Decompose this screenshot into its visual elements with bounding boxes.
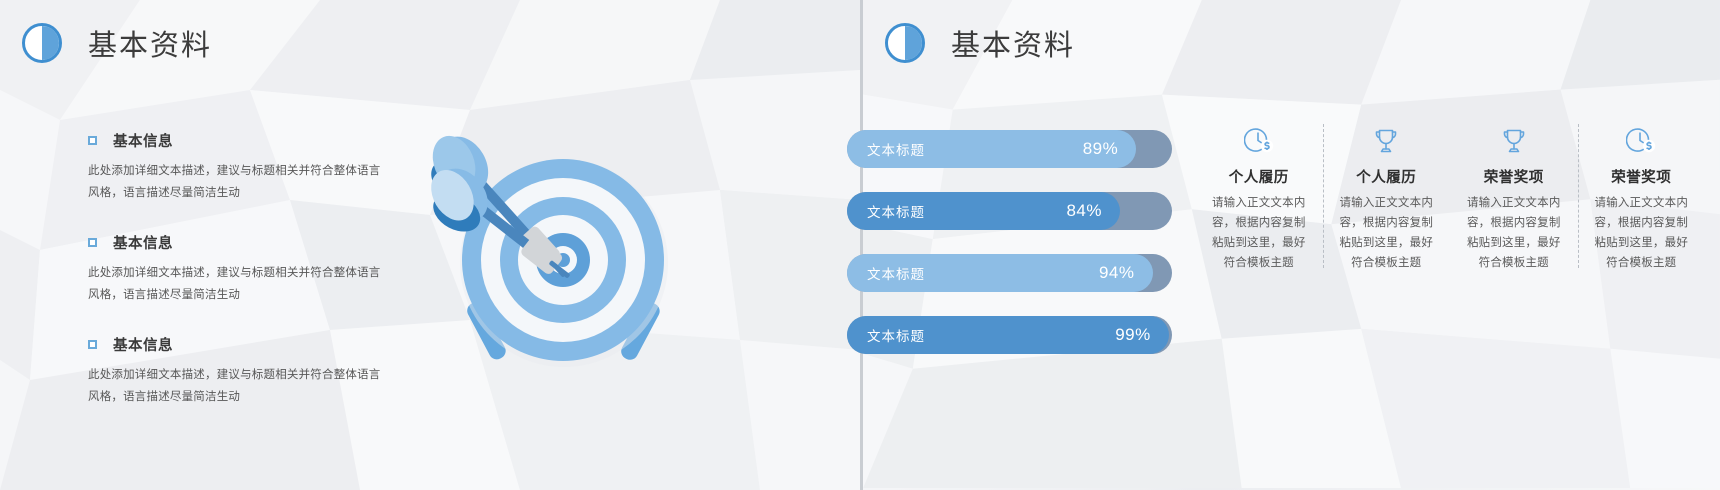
feature-body: 请输入正文文本内容，根据内容复制粘贴到这里，最好符合模板主题 [1211, 193, 1307, 274]
feature-title: 个人履历 [1356, 166, 1416, 187]
progress-label: 文本标题 [867, 263, 925, 283]
feature-body: 请输入正文文本内容，根据内容复制粘贴到这里，最好符合模板主题 [1466, 193, 1562, 274]
feature-title: 荣誉奖项 [1611, 166, 1671, 187]
list-item-title: 基本信息 [113, 334, 173, 355]
feature-title: 个人履历 [1229, 166, 1289, 187]
grid-cell-wrap: 个人履历 请输入正文文本内容，根据内容复制粘贴到这里，最好符合模板主题 个人履历… [1195, 118, 1450, 274]
progress-fill: 文本标题 89% [847, 130, 1136, 168]
progress-fill: 文本标题 84% [847, 192, 1120, 230]
feature-cell[interactable]: 个人履历 请输入正文文本内容，根据内容复制粘贴到这里，最好符合模板主题 [1323, 118, 1451, 274]
progress-bar-list: 文本标题 89% 文本标题 84% 文本标题 94% 文本标题 99% [847, 130, 1172, 354]
list-item-title: 基本信息 [113, 232, 173, 253]
info-list: 基本信息 此处添加详细文本描述，建议与标题相关并符合整体语言风格，语言描述尽量简… [88, 130, 388, 409]
progress-label: 文本标题 [867, 201, 925, 221]
progress-percent: 99% [1115, 325, 1151, 345]
feature-body: 请输入正文文本内容，根据内容复制粘贴到这里，最好符合模板主题 [1339, 193, 1435, 274]
progress-fill: 文本标题 94% [847, 254, 1153, 292]
feature-body: 请输入正文文本内容，根据内容复制粘贴到这里，最好符合模板主题 [1594, 193, 1690, 274]
square-bullet-icon [88, 136, 97, 145]
feature-cell[interactable]: 个人履历 请输入正文文本内容，根据内容复制粘贴到这里，最好符合模板主题 [1195, 118, 1323, 274]
progress-label: 文本标题 [867, 325, 925, 345]
trophy-icon [1371, 124, 1401, 158]
slide-deck: 基本资料 基本信息 此处添加详细文本描述，建议与标题相关并符合整体语言风格，语言… [0, 0, 1720, 490]
half-circle-icon [885, 23, 925, 63]
list-item[interactable]: 基本信息 此处添加详细文本描述，建议与标题相关并符合整体语言风格，语言描述尽量简… [88, 232, 388, 307]
page-title: 基本资料 [951, 22, 1075, 64]
slide-header: 基本资料 [885, 22, 1075, 64]
progress-label: 文本标题 [867, 139, 925, 159]
square-bullet-icon [88, 238, 97, 247]
grid-cell-wrap: 荣誉奖项 请输入正文文本内容，根据内容复制粘贴到这里，最好符合模板主题 荣誉奖项… [1450, 118, 1705, 274]
list-item-header: 基本信息 [88, 334, 388, 355]
half-circle-icon [22, 23, 62, 63]
list-item-body: 此处添加详细文本描述，建议与标题相关并符合整体语言风格，语言描述尽量简洁生动 [88, 364, 388, 409]
progress-percent: 89% [1083, 139, 1119, 159]
progress-bar-row[interactable]: 文本标题 84% [847, 192, 1172, 230]
list-item-title: 基本信息 [113, 130, 173, 151]
list-item-body: 此处添加详细文本描述，建议与标题相关并符合整体语言风格，语言描述尽量简洁生动 [88, 262, 388, 307]
feature-title: 荣誉奖项 [1484, 166, 1544, 187]
progress-percent: 84% [1066, 201, 1102, 221]
list-item[interactable]: 基本信息 此处添加详细文本描述，建议与标题相关并符合整体语言风格，语言描述尽量简… [88, 334, 388, 409]
feature-cell[interactable]: 荣誉奖项 请输入正文文本内容，根据内容复制粘贴到这里，最好符合模板主题 [1450, 118, 1578, 274]
feature-grid: 个人履历 请输入正文文本内容，根据内容复制粘贴到这里，最好符合模板主题 个人履历… [1195, 118, 1705, 383]
progress-bar-row[interactable]: 文本标题 89% [847, 130, 1172, 168]
cell-divider [1578, 124, 1579, 268]
trophy-icon [1499, 124, 1529, 158]
progress-bar-row[interactable]: 文本标题 94% [847, 254, 1172, 292]
cell-divider [1323, 124, 1324, 268]
progress-percent: 94% [1099, 263, 1135, 283]
list-item-header: 基本信息 [88, 232, 388, 253]
slide-header: 基本资料 [22, 22, 212, 64]
progress-fill: 文本标题 99% [847, 316, 1169, 354]
list-item[interactable]: 基本信息 此处添加详细文本描述，建议与标题相关并符合整体语言风格，语言描述尽量简… [88, 130, 388, 205]
list-item-header: 基本信息 [88, 130, 388, 151]
square-bullet-icon [88, 340, 97, 349]
progress-bar-row[interactable]: 文本标题 99% [847, 316, 1172, 354]
clock-dollar-icon [1626, 124, 1656, 158]
feature-cell[interactable]: 荣誉奖项 请输入正文文本内容，根据内容复制粘贴到这里，最好符合模板主题 [1578, 118, 1706, 274]
clock-dollar-icon [1244, 124, 1274, 158]
page-title: 基本资料 [88, 22, 212, 64]
slide-left: 基本资料 基本信息 此处添加详细文本描述，建议与标题相关并符合整体语言风格，语言… [0, 0, 860, 490]
list-item-body: 此处添加详细文本描述，建议与标题相关并符合整体语言风格，语言描述尽量简洁生动 [88, 160, 388, 205]
dartboard-with-darts-icon [420, 95, 720, 385]
